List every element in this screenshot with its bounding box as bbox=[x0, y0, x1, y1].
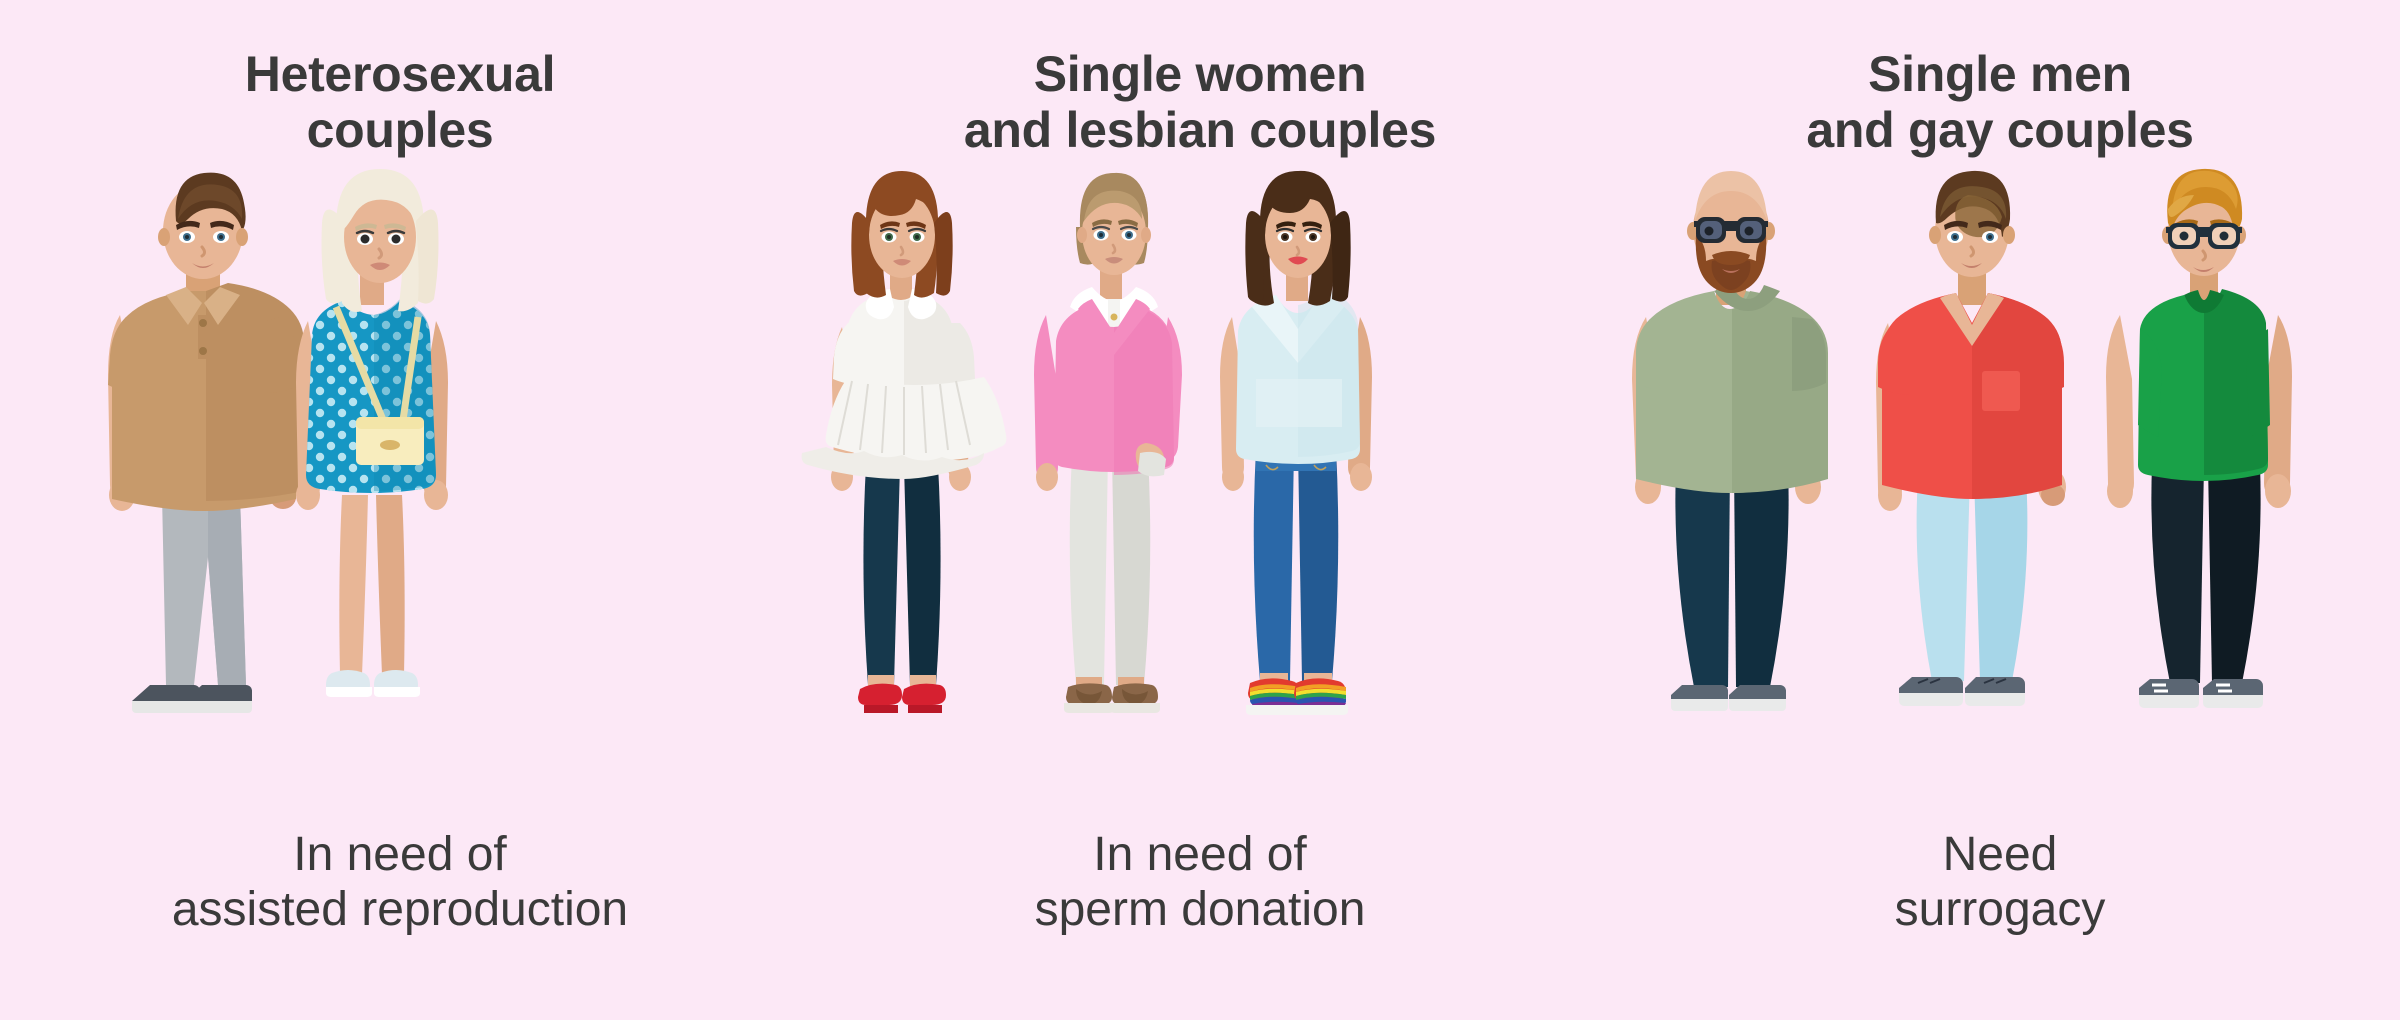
figure-group-men bbox=[1600, 165, 2400, 805]
infographic-root: Heterosexual couples bbox=[0, 0, 2400, 1020]
column-title-heterosexual: Heterosexual couples bbox=[0, 46, 800, 158]
column-title-women: Single women and lesbian couples bbox=[800, 46, 1600, 158]
column-single-women-lesbian-couples: Single women and lesbian couples bbox=[800, 0, 1600, 1020]
woman-pink-sweater-illustration bbox=[1016, 165, 1216, 805]
figure-woman-blonde-polkadot bbox=[270, 165, 490, 805]
figure-group-heterosexual bbox=[0, 165, 800, 805]
figure-woman-blue-tank bbox=[1200, 165, 1400, 805]
figure-man-bald-bearded bbox=[1620, 165, 1850, 805]
column-caption-women: In need of sperm donation bbox=[800, 828, 1600, 937]
column-heterosexual-couples: Heterosexual couples bbox=[0, 0, 800, 1020]
column-title-men: Single men and gay couples bbox=[1600, 46, 2400, 158]
column-caption-heterosexual: In need of assisted reproduction bbox=[0, 828, 800, 937]
figure-man-green-tank bbox=[2096, 165, 2316, 805]
man-green-tank-illustration bbox=[2096, 165, 2316, 805]
figure-man-red-vneck bbox=[1860, 165, 2090, 805]
figure-woman-white-peplum bbox=[808, 165, 1008, 805]
man-red-vneck-illustration bbox=[1860, 165, 2090, 805]
woman-white-peplum-illustration bbox=[808, 165, 1008, 805]
man-bald-bearded-illustration bbox=[1620, 165, 1850, 805]
figure-group-women bbox=[800, 165, 1600, 805]
column-single-men-gay-couples: Single men and gay couples bbox=[1600, 0, 2400, 1020]
column-caption-men: Need surrogacy bbox=[1600, 828, 2400, 937]
figure-woman-pink-sweater bbox=[1016, 165, 1216, 805]
woman-blonde-polkadot-illustration bbox=[270, 165, 490, 805]
woman-blue-tank-illustration bbox=[1200, 165, 1400, 805]
